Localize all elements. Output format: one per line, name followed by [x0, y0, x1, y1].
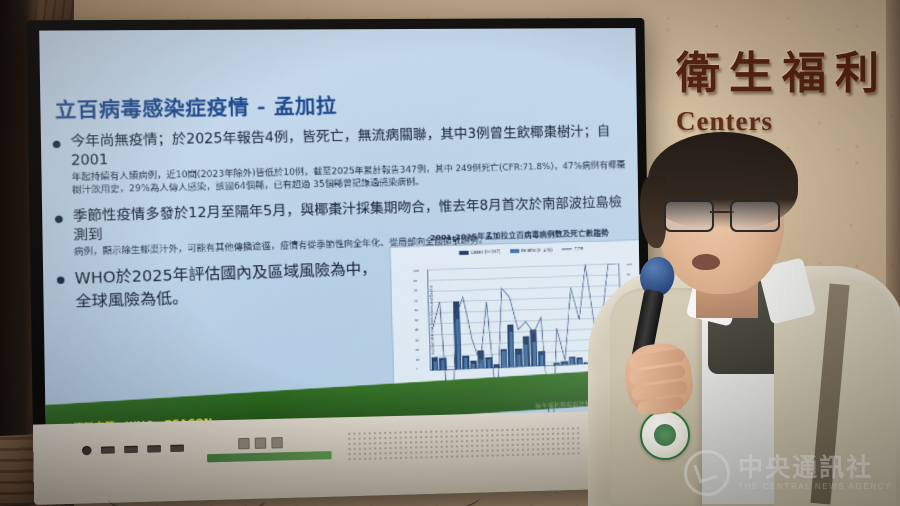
signage-chinese-text: 衛生福利	[676, 52, 900, 96]
watermark-chinese: 中央通訊社	[738, 455, 892, 481]
display-button[interactable]	[271, 437, 283, 448]
display-cable	[244, 475, 481, 506]
chart-y-tick: 10	[416, 358, 421, 361]
chart-y-ticks-left: 1009080706050403020100	[413, 270, 421, 372]
display-frame: 立百病毒感染症疫情 - 孟加拉 今年尚無疫情；於2025年報告4例，皆死亡，無流…	[26, 18, 651, 505]
chart-y-tick: 60	[414, 309, 419, 312]
agency-emblem-icon	[640, 410, 690, 460]
display-cable	[108, 482, 265, 506]
legend-entry-cfr: CFR	[562, 246, 584, 252]
display-screen: 立百病毒感染症疫情 - 孟加拉 今年尚無疫情；於2025年報告4例，皆死亡，無流…	[39, 28, 641, 426]
watermark-english: THE CENTRAL NEWS AGENCY	[738, 483, 892, 491]
chart-y-tick: 40	[415, 329, 420, 332]
news-agency-logo-icon	[684, 450, 730, 496]
glasses-lens-right	[730, 200, 780, 232]
legend-label-cases: Cases (n=347)	[470, 249, 500, 255]
legend-entry-cases: Cases (n=347)	[459, 249, 501, 255]
display-port-row	[82, 444, 184, 456]
legend-swatch-cases	[459, 250, 469, 254]
signage-english-text: Centers	[676, 108, 900, 135]
display-button-row[interactable]	[238, 437, 283, 449]
speaker-mouth	[692, 254, 720, 270]
chart-y-tick: 70	[414, 299, 419, 302]
glasses-icon	[664, 200, 780, 228]
legend-swatch-deaths	[510, 249, 519, 253]
legend-label-cfr: CFR	[574, 246, 583, 251]
watermark: 中央通訊社 THE CENTRAL NEWS AGENCY	[684, 450, 892, 496]
display-label-strip	[207, 451, 332, 462]
bullet-item: 今年尚無疫情；於2025年報告4例，皆死亡，無流病關聯，其中3例曾生飲椰棗樹汁；…	[49, 123, 628, 198]
display-button[interactable]	[255, 437, 267, 448]
presentation-display: 立百病毒感染症疫情 - 孟加拉 今年尚無疫情；於2025年報告4例，皆死亡，無流…	[48, 18, 648, 488]
speaker-hair-side	[640, 176, 666, 248]
watermark-text: 中央通訊社 THE CENTRAL NEWS AGENCY	[738, 455, 892, 492]
chart-y-tick: 100	[413, 270, 418, 273]
display-button[interactable]	[238, 438, 250, 450]
wall-signage: 衛生福利 Centers	[676, 52, 900, 135]
usb-port-icon	[101, 446, 115, 454]
legend-swatch-cfr	[562, 249, 572, 250]
power-port-icon	[82, 446, 92, 455]
legend-label-deaths: Deaths (n=249)	[521, 247, 553, 253]
slide-content: 立百病毒感染症疫情 - 孟加拉 今年尚無疫情；於2025年報告4例，皆死亡，無流…	[39, 28, 641, 426]
slide-title: 立百病毒感染症疫情 - 孟加拉	[55, 90, 338, 123]
usb-port-icon	[124, 446, 138, 454]
chart-y-tick: 80	[414, 289, 419, 292]
hdmi-port-icon	[147, 445, 161, 453]
chart-y-tick: 50	[415, 319, 420, 322]
chart-y-tick: 20	[416, 348, 421, 351]
speaker-grille	[347, 426, 581, 462]
glasses-lens-left	[664, 200, 714, 232]
legend-entry-deaths: Deaths (n=249)	[510, 247, 553, 253]
chart-y-tick: 90	[414, 279, 419, 282]
hdmi-port-icon	[170, 445, 184, 453]
screenshot-scene: 衛生福利 Centers 立百病毒感染症疫情 - 孟加拉 今年尚無疫情；於202…	[0, 0, 900, 506]
chart-y-tick: 0	[416, 368, 421, 371]
chart-y-tick: 30	[415, 339, 420, 342]
